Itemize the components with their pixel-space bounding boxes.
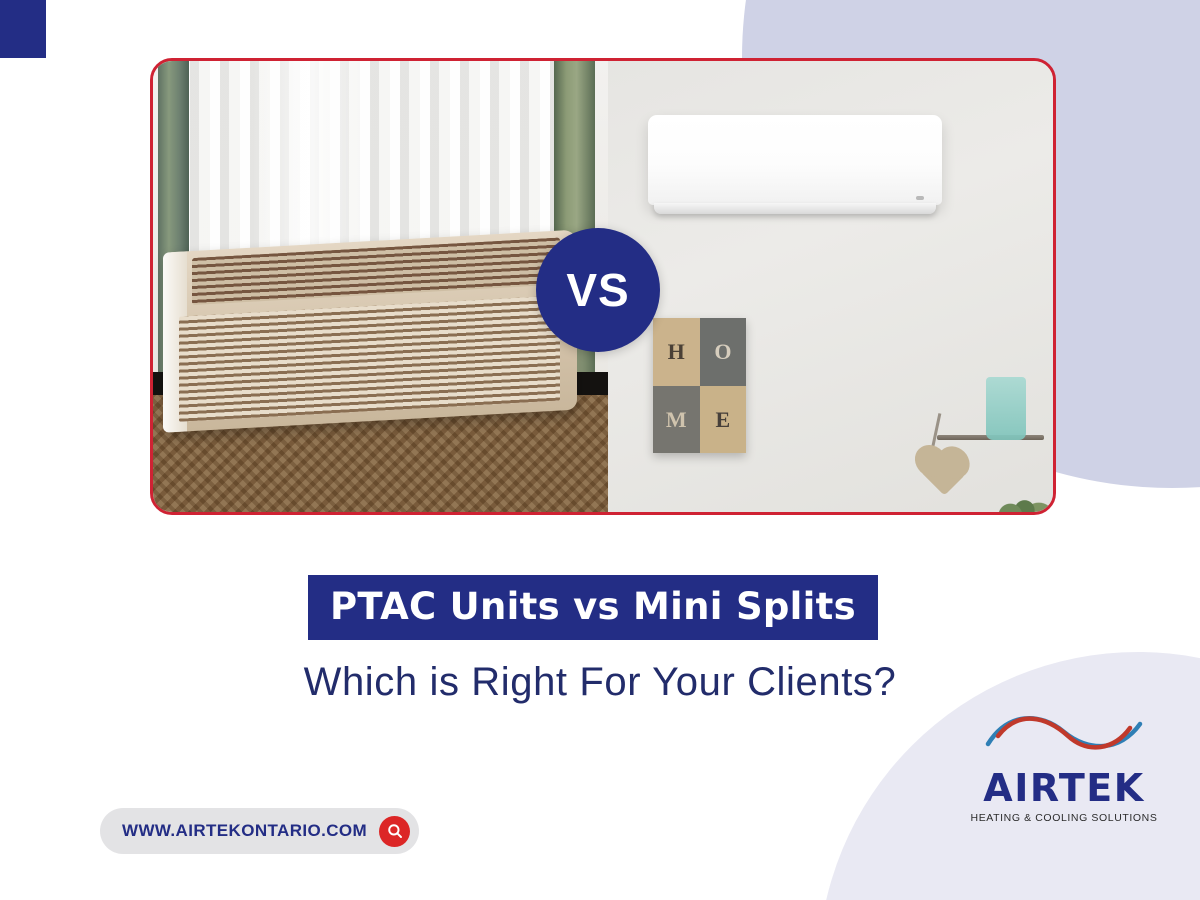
decor-corner-square bbox=[0, 0, 46, 58]
home-sign-letter: M bbox=[653, 386, 700, 454]
vs-badge: VS bbox=[536, 228, 660, 352]
home-sign-letter: E bbox=[700, 386, 747, 454]
ptac-unit bbox=[167, 230, 577, 433]
home-sign-letter: H bbox=[653, 318, 700, 386]
home-wall-sign: H O M E bbox=[653, 318, 746, 453]
mini-split-unit bbox=[648, 115, 941, 205]
website-url-pill[interactable]: WWW.AIRTEKONTARIO.COM bbox=[100, 808, 419, 854]
ptac-top-vent bbox=[191, 238, 560, 306]
mini-split-indicator-icon bbox=[916, 196, 924, 200]
airtek-wave-swoosh-icon bbox=[978, 749, 1150, 766]
page-subtitle: Which is Right For Your Clients? bbox=[0, 660, 1200, 705]
brand-tagline: HEATING & COOLING SOLUTIONS bbox=[966, 812, 1162, 824]
ptac-front-grille bbox=[179, 296, 560, 422]
poster-canvas: H O M E VS PTAC Units vs Mini Splits Whi… bbox=[0, 0, 1200, 900]
headline-band: PTAC Units vs Mini Splits bbox=[308, 575, 878, 640]
search-icon[interactable] bbox=[379, 816, 410, 847]
teal-jar bbox=[986, 377, 1026, 440]
home-sign-letter: O bbox=[700, 318, 747, 386]
brand-name: AIRTEK bbox=[966, 769, 1162, 807]
brand-logo: AIRTEK HEATING & COOLING SOLUTIONS bbox=[966, 706, 1162, 824]
website-url-text: WWW.AIRTEKONTARIO.COM bbox=[122, 821, 367, 841]
hero-right-minisplit-scene: H O M E bbox=[608, 61, 1053, 512]
plant-decor bbox=[982, 467, 1053, 512]
vs-badge-label: VS bbox=[566, 263, 629, 317]
page-title: PTAC Units vs Mini Splits bbox=[330, 585, 856, 628]
